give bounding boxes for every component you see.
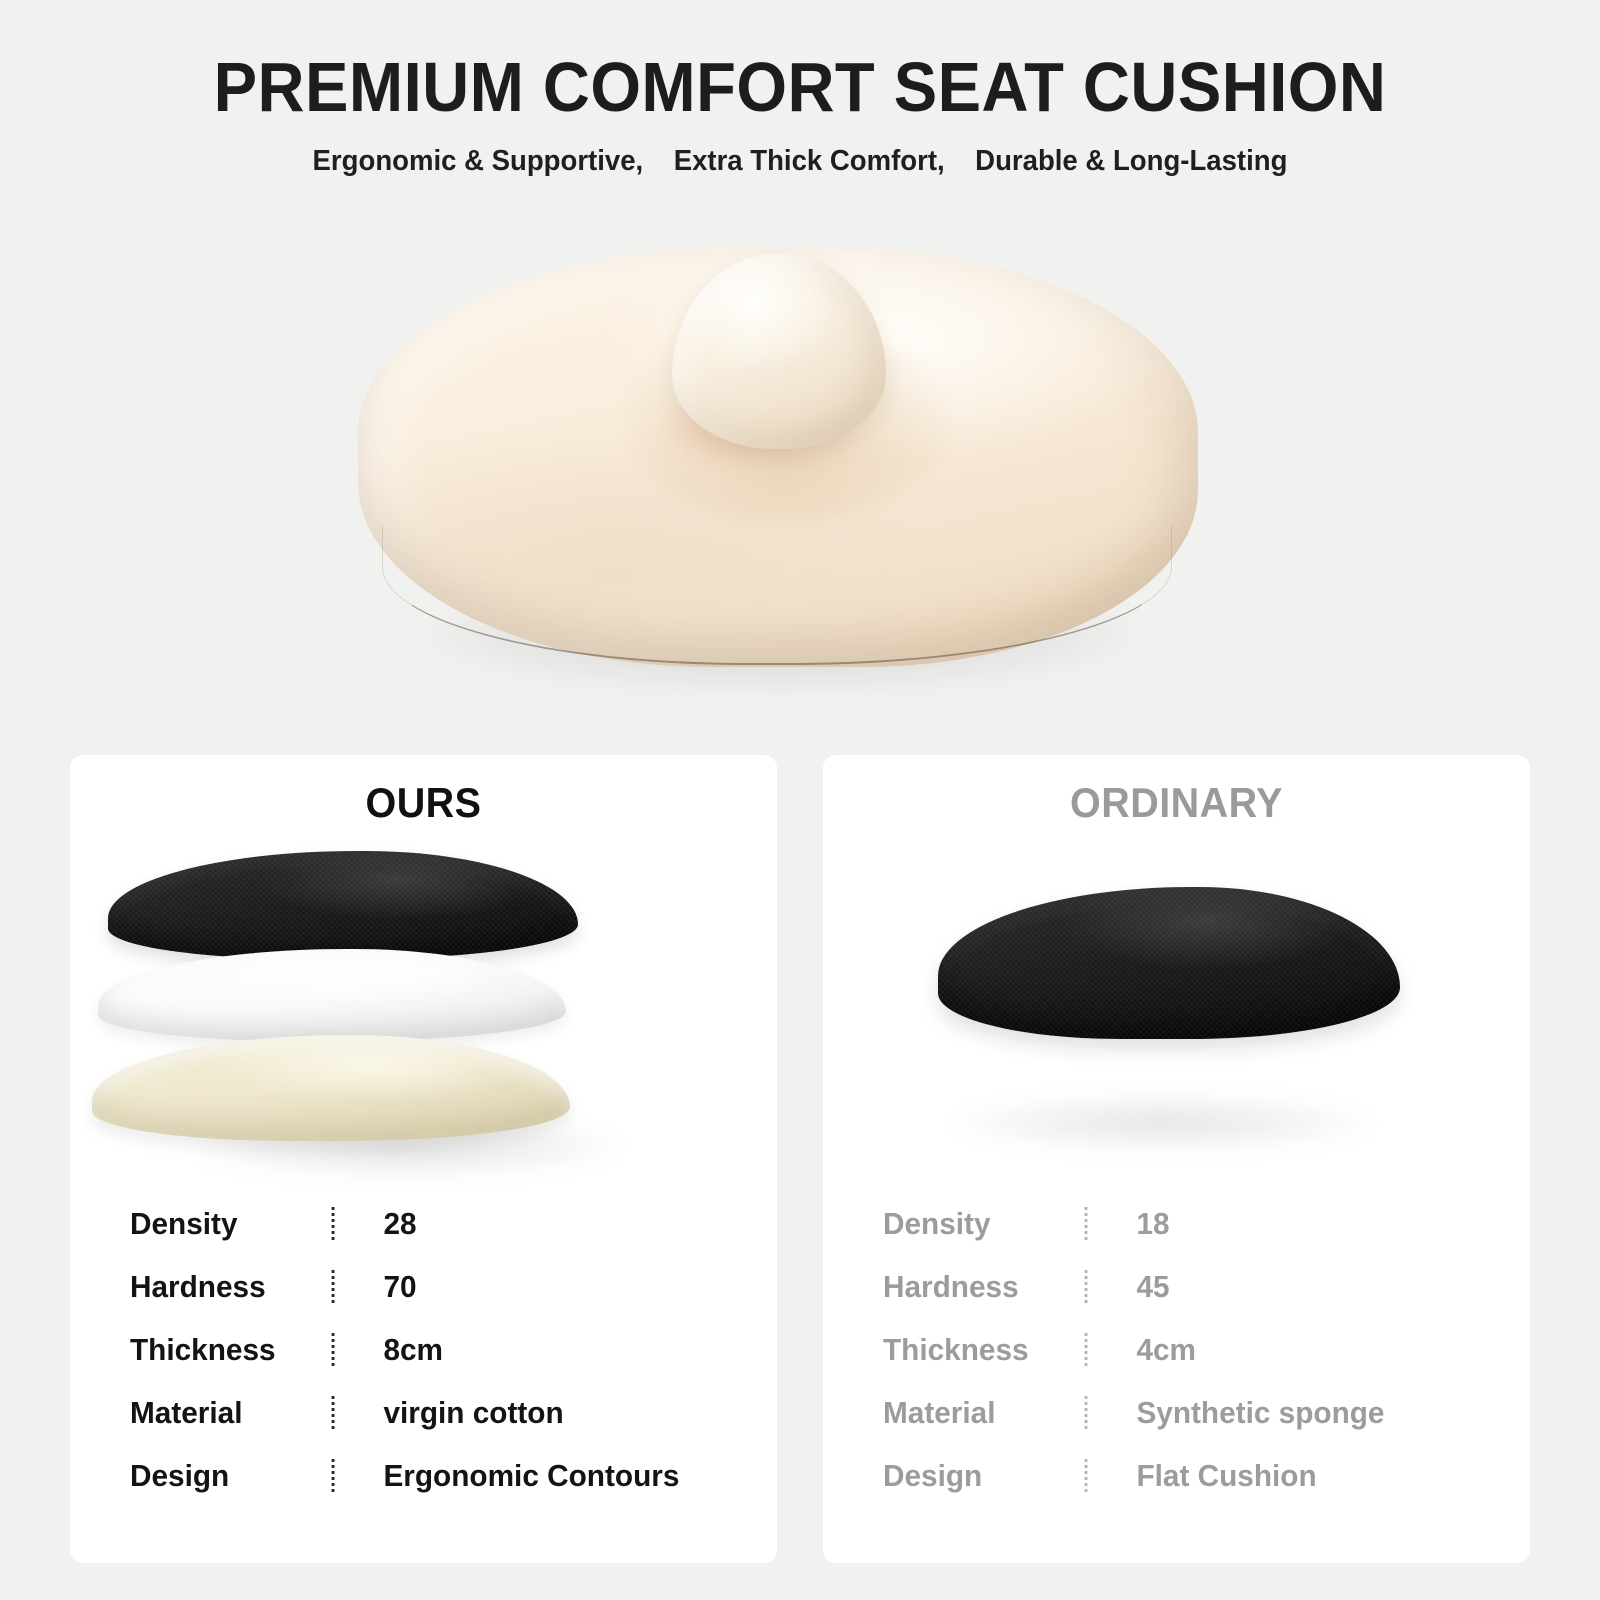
spec-dotted-divider <box>332 1459 335 1492</box>
spec-label: Hardness <box>130 1255 332 1318</box>
white-liner-layer <box>98 949 566 1041</box>
infographic-page: PREMIUM COMFORT SEAT CUSHION Ergonomic &… <box>0 0 1600 1600</box>
spec-dotted-divider <box>1085 1459 1088 1492</box>
spec-label: Density <box>883 1192 1085 1255</box>
spec-row: Material virgin cotton <box>130 1381 694 1444</box>
ordinary-card: ORDINARY Density 18 Hardness 45 Thicknes… <box>823 755 1530 1563</box>
ours-heading: OURS <box>91 777 756 829</box>
spec-value: Synthetic sponge <box>1085 1381 1447 1444</box>
spec-value: 18 <box>1085 1192 1447 1255</box>
ours-spec-table: Density 28 Hardness 70 Thickness 8cm Mat… <box>70 1192 777 1507</box>
spec-value: 4cm <box>1085 1318 1447 1381</box>
flat-black-cushion <box>938 887 1400 1039</box>
spec-value: 45 <box>1085 1255 1447 1318</box>
ours-foam-layer-stack <box>70 845 777 1175</box>
spec-dotted-divider <box>332 1270 335 1303</box>
spec-value: Ergonomic Contours <box>332 1444 694 1507</box>
subtitle-part-2: Extra Thick Comfort, <box>674 145 945 177</box>
spec-row: Density 18 <box>883 1192 1447 1255</box>
ordinary-heading: ORDINARY <box>844 777 1509 829</box>
subtitle-part-1: Ergonomic & Supportive, <box>313 145 644 177</box>
spec-row: Hardness 45 <box>883 1255 1447 1318</box>
spec-row: Material Synthetic sponge <box>883 1381 1447 1444</box>
subtitle-part-3: Durable & Long-Lasting <box>975 145 1287 177</box>
spec-value: virgin cotton <box>332 1381 694 1444</box>
spec-row: Density 28 <box>130 1192 694 1255</box>
spec-label: Design <box>883 1444 1085 1507</box>
header: PREMIUM COMFORT SEAT CUSHION Ergonomic &… <box>0 48 1600 178</box>
spec-label: Thickness <box>130 1318 332 1381</box>
comparison-section: OURS Density 28 Hardness 70 <box>70 755 1530 1563</box>
spec-value: Flat Cushion <box>1085 1444 1447 1507</box>
subtitle: Ergonomic & Supportive, Extra Thick Comf… <box>40 144 1560 178</box>
ordinary-cushion-illustration <box>823 845 1530 1175</box>
black-fabric-cover-layer <box>108 851 578 959</box>
spec-label: Material <box>130 1381 332 1444</box>
spec-dotted-divider <box>1085 1333 1088 1366</box>
page-title: PREMIUM COMFORT SEAT CUSHION <box>56 48 1544 126</box>
spec-row: Hardness 70 <box>130 1255 694 1318</box>
spec-dotted-divider <box>1085 1207 1088 1240</box>
flat-cushion-drop-shadow <box>953 1095 1373 1151</box>
ours-card: OURS Density 28 Hardness 70 <box>70 755 777 1563</box>
spec-label: Design <box>130 1444 332 1507</box>
spec-label: Hardness <box>883 1255 1085 1318</box>
spec-row: Thickness 4cm <box>883 1318 1447 1381</box>
spec-label: Density <box>130 1192 332 1255</box>
spec-label: Material <box>883 1381 1085 1444</box>
spec-row: Design Ergonomic Contours <box>130 1444 694 1507</box>
spec-dotted-divider <box>332 1333 335 1366</box>
spec-value: 28 <box>332 1192 694 1255</box>
spec-value: 70 <box>332 1255 694 1318</box>
spec-row: Thickness 8cm <box>130 1318 694 1381</box>
ordinary-spec-table: Density 18 Hardness 45 Thickness 4cm Mat… <box>823 1192 1530 1507</box>
spec-dotted-divider <box>332 1396 335 1429</box>
spec-dotted-divider <box>1085 1396 1088 1429</box>
hero-product-image <box>330 225 1230 725</box>
spec-label: Thickness <box>883 1318 1085 1381</box>
spec-dotted-divider <box>1085 1270 1088 1303</box>
spec-value: 8cm <box>332 1318 694 1381</box>
cream-memory-foam-layer <box>92 1035 570 1141</box>
spec-dotted-divider <box>332 1207 335 1240</box>
spec-row: Design Flat Cushion <box>883 1444 1447 1507</box>
